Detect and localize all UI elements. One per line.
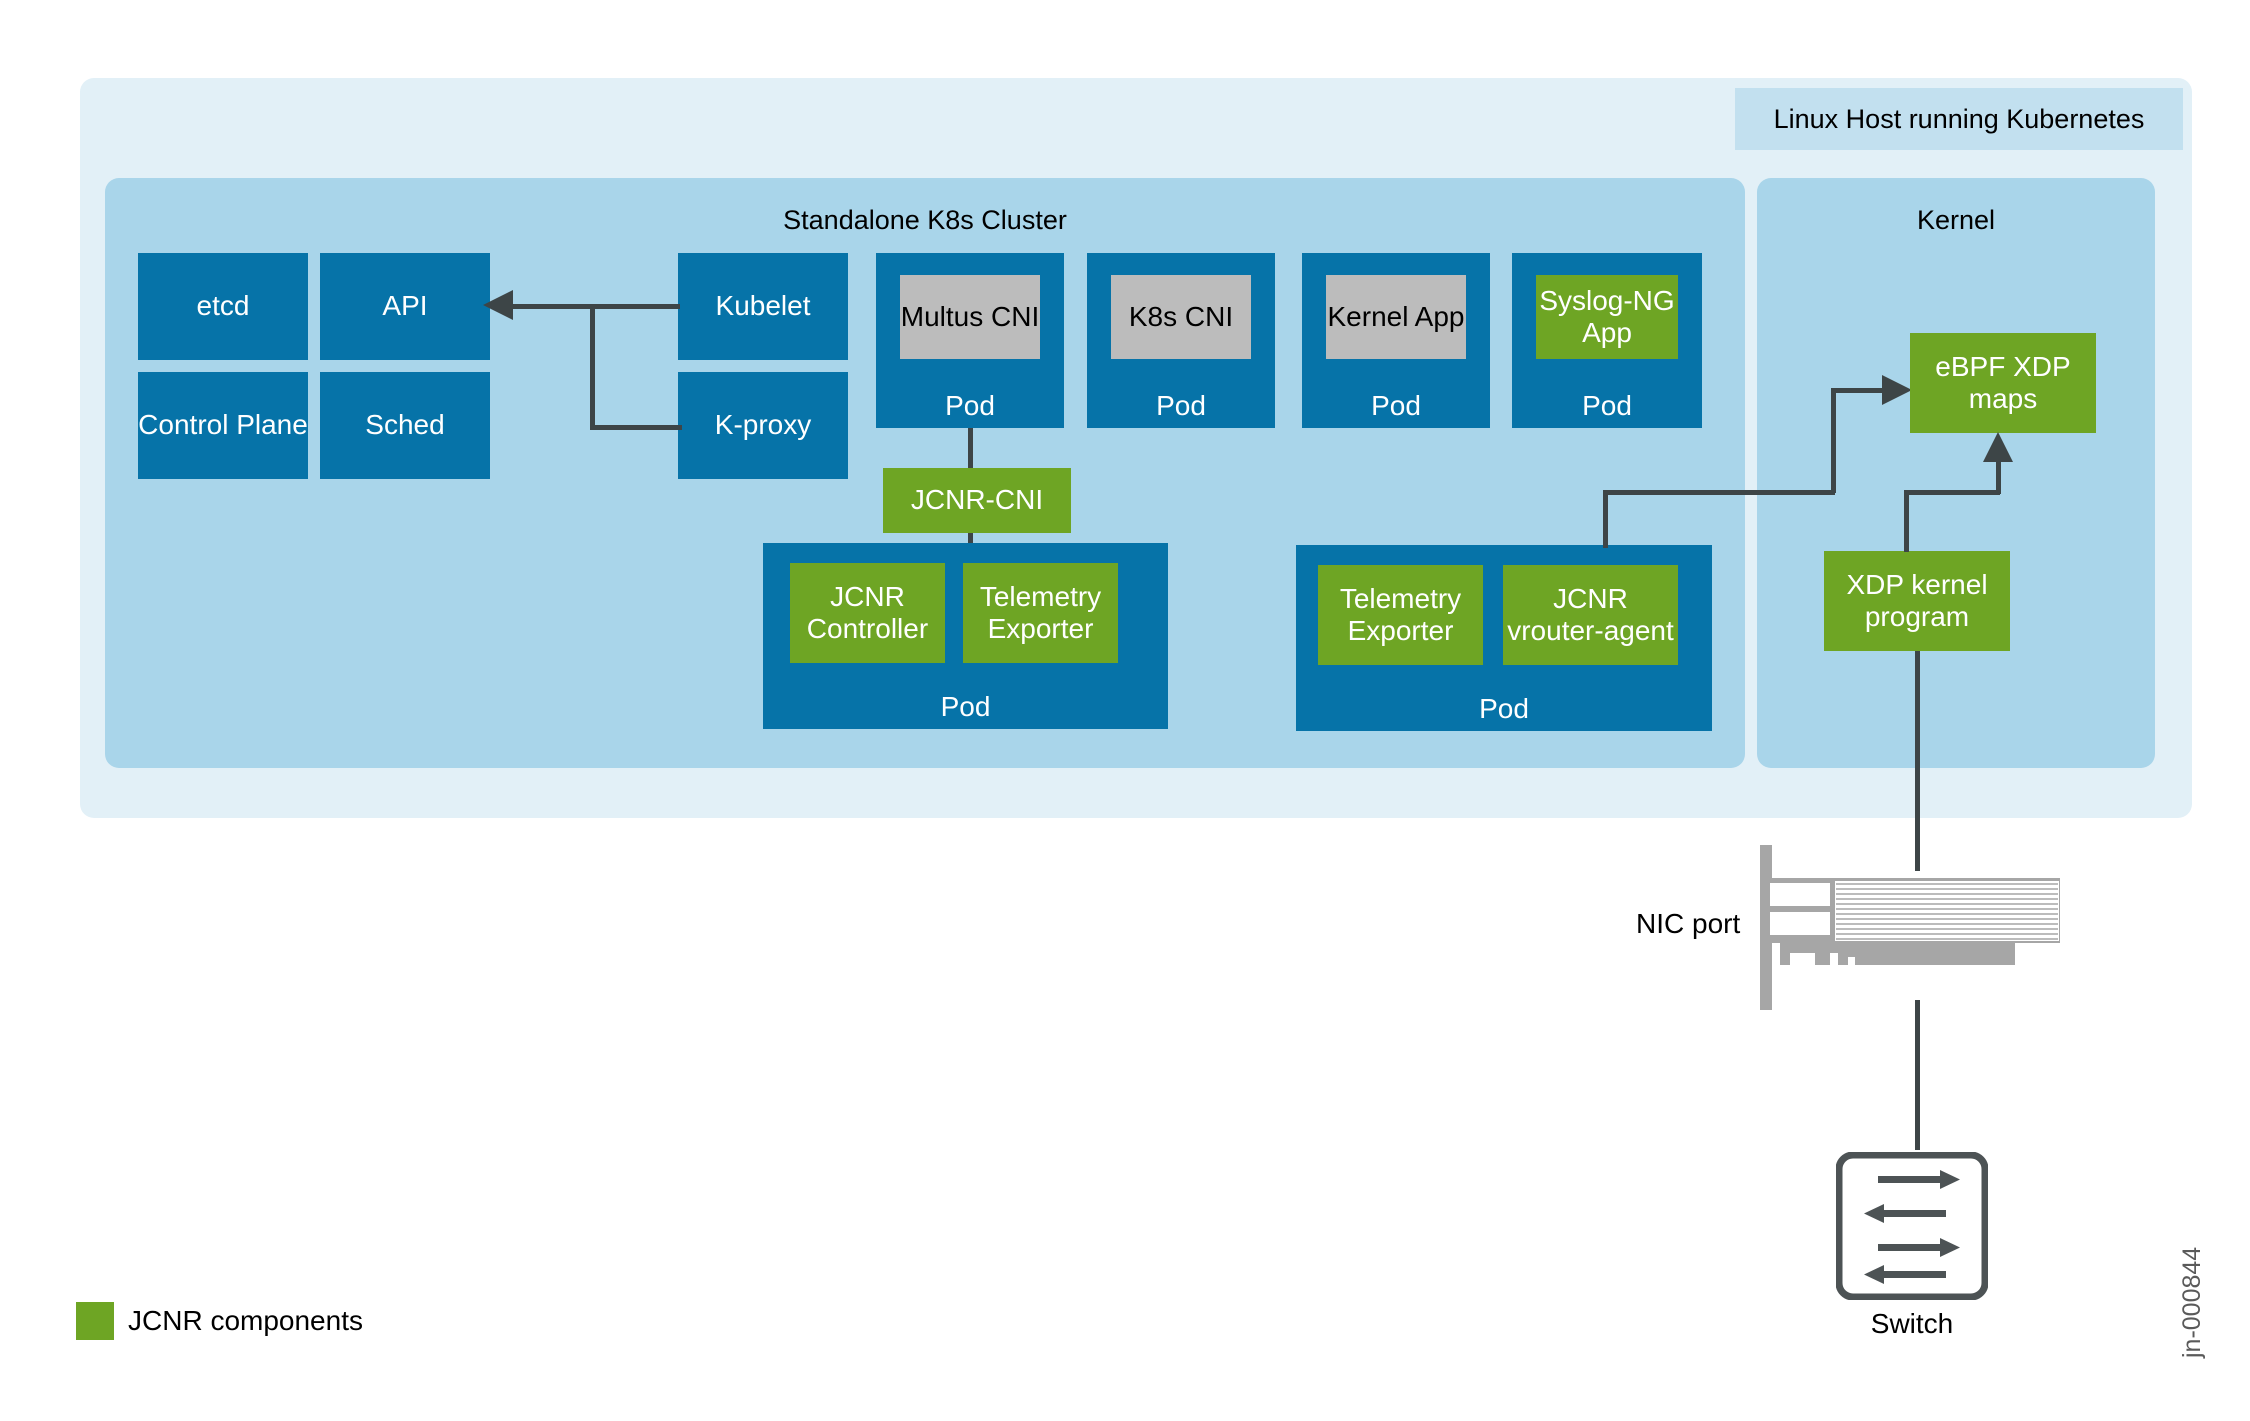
diagram-canvas: Linux Host running Kubernetes Standalone… xyxy=(0,0,2250,1421)
box-etcd[interactable]: etcd xyxy=(138,253,308,360)
switch-icon xyxy=(1836,1152,1988,1300)
connector-xdpprog-to-nic xyxy=(1915,651,1920,871)
switch-label: Switch xyxy=(1836,1308,1988,1340)
pod-jcnr-vrouter-agent[interactable]: Telemetry Exporter JCNR vrouter-agent Po… xyxy=(1296,545,1712,731)
pod-label: Pod xyxy=(876,390,1064,422)
connector-xdpprog-up xyxy=(1904,490,1909,552)
connector-nic-to-switch xyxy=(1915,1000,1920,1150)
component-multus-cni[interactable]: Multus CNI xyxy=(900,275,1040,359)
connector-xdpprog-right xyxy=(1904,490,2000,495)
component-syslog-ng-app[interactable]: Syslog-NG App xyxy=(1536,275,1678,359)
connector-kproxy-to-junction xyxy=(590,425,682,430)
component-k8s-cni[interactable]: K8s CNI xyxy=(1111,275,1251,359)
box-kubelet[interactable]: Kubelet xyxy=(678,253,848,360)
linux-host-title: Linux Host running Kubernetes xyxy=(1735,88,2183,150)
box-control-plane[interactable]: Control Plane xyxy=(138,372,308,479)
component-telemetry-exporter[interactable]: Telemetry Exporter xyxy=(963,563,1118,663)
arrow-head-to-ebpf-bottom xyxy=(1982,432,2016,466)
pod-jcnr-controller[interactable]: JCNR Controller Telemetry Exporter Pod xyxy=(763,543,1168,729)
pod-label: Pod xyxy=(1512,390,1702,422)
pod-multus-cni[interactable]: Multus CNI Pod xyxy=(876,253,1064,428)
box-k-proxy[interactable]: K-proxy xyxy=(678,372,848,479)
connector-vrouter-up2 xyxy=(1831,388,1836,493)
pod-label: Pod xyxy=(1087,390,1275,422)
box-api[interactable]: API xyxy=(320,253,490,360)
arrow-head-to-ebpf xyxy=(1878,374,1912,408)
connector-into-ebpf xyxy=(1831,388,1883,393)
cluster-panel-title: Standalone K8s Cluster xyxy=(770,202,1080,238)
connector-vertical-kubelet-kproxy xyxy=(590,304,595,428)
kernel-panel-title: Kernel xyxy=(1850,202,2062,238)
box-xdp-kernel-program[interactable]: XDP kernel program xyxy=(1824,551,2010,651)
box-ebpf-xdp-maps[interactable]: eBPF XDP maps xyxy=(1910,333,2096,433)
pod-label: Pod xyxy=(1302,390,1490,422)
pod-label: Pod xyxy=(763,691,1168,723)
box-jcnr-cni[interactable]: JCNR-CNI xyxy=(883,468,1071,533)
pod-label: Pod xyxy=(1296,693,1712,725)
component-jcnr-vrouter-agent[interactable]: JCNR vrouter-agent xyxy=(1503,565,1678,665)
legend-label-jcnr: JCNR components xyxy=(128,1305,528,1337)
component-telemetry-exporter[interactable]: Telemetry Exporter xyxy=(1318,565,1483,665)
connector-vrouter-up xyxy=(1603,490,1608,548)
pod-k8s-cni[interactable]: K8s CNI Pod xyxy=(1087,253,1275,428)
component-jcnr-controller[interactable]: JCNR Controller xyxy=(790,563,945,663)
figure-id-watermark: jn-000844 xyxy=(2178,1247,2207,1358)
connector-vrouter-right xyxy=(1603,490,1835,495)
pod-kernel-app[interactable]: Kernel App Pod xyxy=(1302,253,1490,428)
box-sched[interactable]: Sched xyxy=(320,372,490,479)
kernel-panel xyxy=(1757,178,2155,768)
nic-card-icon xyxy=(1760,845,2080,1010)
arrow-head-to-api xyxy=(483,288,517,322)
pod-syslog-ng-app[interactable]: Syslog-NG App Pod xyxy=(1512,253,1702,428)
connector-multus-to-jcnr-cni xyxy=(968,428,973,470)
component-kernel-app[interactable]: Kernel App xyxy=(1326,275,1466,359)
legend-swatch-jcnr xyxy=(76,1302,114,1340)
